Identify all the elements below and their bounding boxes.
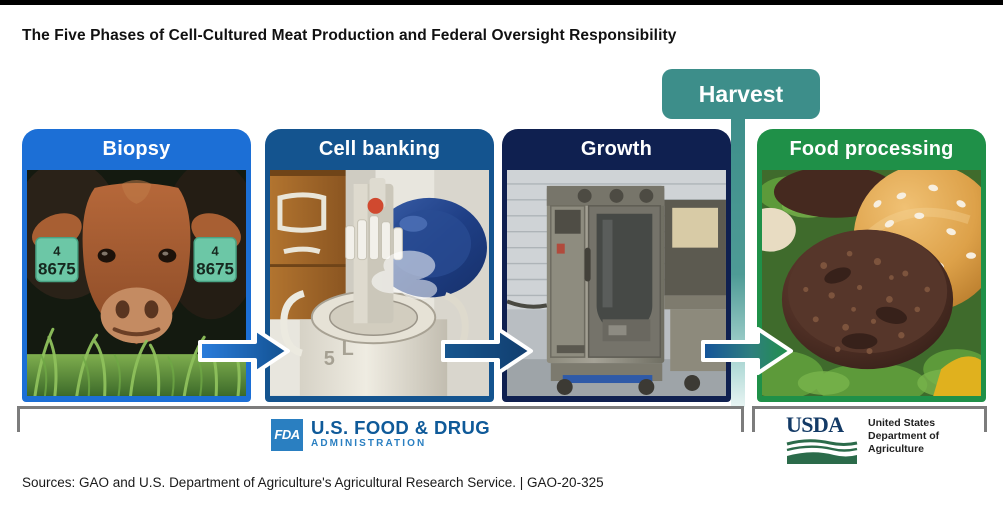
arrow-right-icon — [440, 323, 534, 379]
svg-text:8675: 8675 — [196, 260, 234, 279]
phase-label-biopsy: Biopsy — [22, 129, 251, 170]
harvest-label: Harvest — [699, 81, 783, 107]
figure-title: The Five Phases of Cell-Cultured Meat Pr… — [22, 27, 676, 45]
svg-text:8675: 8675 — [38, 260, 76, 279]
usda-line-2: Department of — [868, 430, 939, 443]
ear-tag-right: 4 8675 — [194, 238, 236, 282]
phase-label-food-processing: Food processing — [757, 129, 986, 170]
harvest-callout: Harvest — [662, 69, 820, 119]
svg-text:L: L — [342, 338, 354, 360]
burger-illustration — [762, 170, 981, 396]
arrow-biopsy-to-cell-banking — [197, 323, 291, 379]
arrow-right-icon — [700, 323, 794, 379]
usda-line-3: Agriculture — [868, 443, 939, 456]
figure-container: The Five Phases of Cell-Cultured Meat Pr… — [0, 0, 1003, 508]
arrow-right-icon — [197, 323, 291, 379]
bioreactor-illustration — [507, 170, 726, 396]
arrow-growth-to-food-processing — [700, 323, 794, 379]
usda-landscape-icon — [786, 437, 858, 465]
fda-logo: FDA U.S. FOOD & DRUG ADMINISTRATION — [271, 418, 490, 451]
usda-mark: USDA — [786, 414, 858, 465]
svg-text:4: 4 — [212, 244, 220, 259]
top-rule — [0, 0, 1003, 5]
svg-text:5: 5 — [324, 348, 335, 370]
fda-mark: FDA — [271, 419, 303, 451]
usda-wordmark: USDA — [786, 414, 858, 436]
fda-agency-subname: ADMINISTRATION — [311, 437, 490, 451]
ear-tag-left: 4 8675 — [36, 238, 78, 282]
usda-line-1: United States — [868, 417, 939, 430]
fda-agency-name: U.S. FOOD & DRUG — [311, 418, 490, 437]
phase-image-growth — [507, 170, 726, 397]
arrow-cell-banking-to-growth — [440, 323, 534, 379]
usda-agency-name: United States Department of Agriculture — [868, 417, 939, 456]
phase-image-food-processing — [762, 170, 981, 397]
phase-panel-growth[interactable]: Growth — [502, 129, 731, 402]
phase-label-cell-banking: Cell banking — [265, 129, 494, 170]
source-note: Sources: GAO and U.S. Department of Agri… — [22, 475, 604, 490]
usda-logo: USDA United States Department of Agricul… — [786, 414, 939, 465]
phase-label-growth: Growth — [502, 129, 731, 170]
fda-logo-text: U.S. FOOD & DRUG ADMINISTRATION — [311, 418, 490, 451]
svg-text:4: 4 — [53, 244, 61, 259]
